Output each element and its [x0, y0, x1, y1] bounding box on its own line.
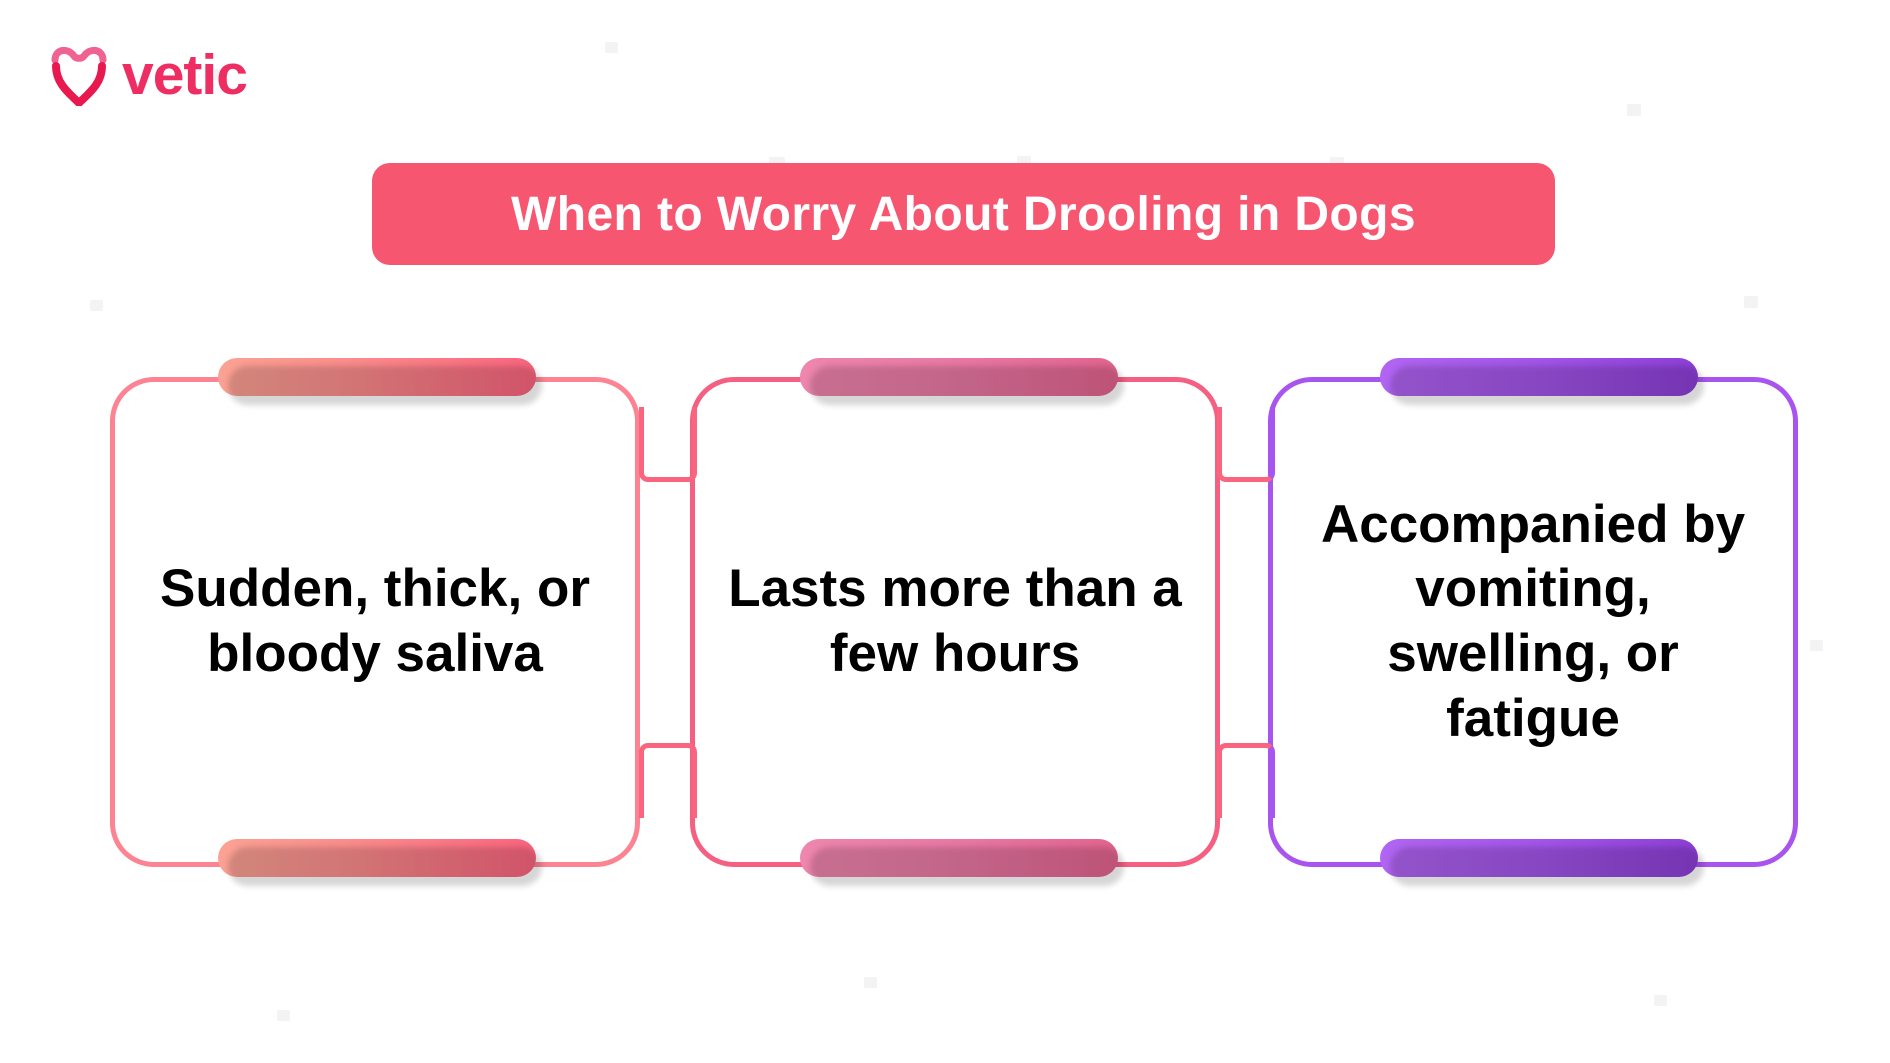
card-accompanied-by-vomiting-swelling-fatigue[interactable]: Accompanied by vomiting, swelling, or fa…	[1268, 377, 1798, 867]
connector-card2-card3-upper	[1217, 407, 1275, 482]
background-speck	[90, 300, 103, 311]
card-text: Lasts more than a few hours	[695, 557, 1215, 686]
connector-card2-card3-lower	[1217, 743, 1275, 818]
connector-card1-card2-upper	[639, 407, 697, 482]
card-text: Accompanied by vomiting, swelling, or fa…	[1273, 493, 1793, 752]
brand-name: vetic	[122, 47, 247, 104]
card-2-top-accent-bar	[800, 358, 1118, 396]
card-1-top-accent-bar	[218, 358, 536, 396]
background-speck	[277, 1010, 290, 1021]
background-speck	[1654, 995, 1667, 1006]
heart-paw-icon	[50, 44, 108, 106]
card-sudden-thick-bloody-saliva[interactable]: Sudden, thick, or bloody saliva	[110, 377, 640, 867]
background-speck	[1627, 104, 1641, 116]
card-lasts-more-than-a-few-hours[interactable]: Lasts more than a few hours	[690, 377, 1220, 867]
page-title: When to Worry About Drooling in Dogs	[511, 187, 1416, 242]
background-speck	[1744, 296, 1758, 308]
title-banner: When to Worry About Drooling in Dogs	[372, 163, 1555, 265]
card-3-top-accent-bar	[1380, 358, 1698, 396]
card-row: Sudden, thick, or bloody saliva Lasts mo…	[0, 355, 1890, 895]
background-speck	[864, 977, 877, 988]
card-2-bottom-accent-bar	[800, 839, 1118, 877]
card-3-bottom-accent-bar	[1380, 839, 1698, 877]
brand-logo[interactable]: vetic	[50, 44, 247, 106]
card-text: Sudden, thick, or bloody saliva	[115, 557, 635, 686]
background-speck	[605, 42, 618, 53]
connector-card1-card2-lower	[639, 743, 697, 818]
card-1-bottom-accent-bar	[218, 839, 536, 877]
